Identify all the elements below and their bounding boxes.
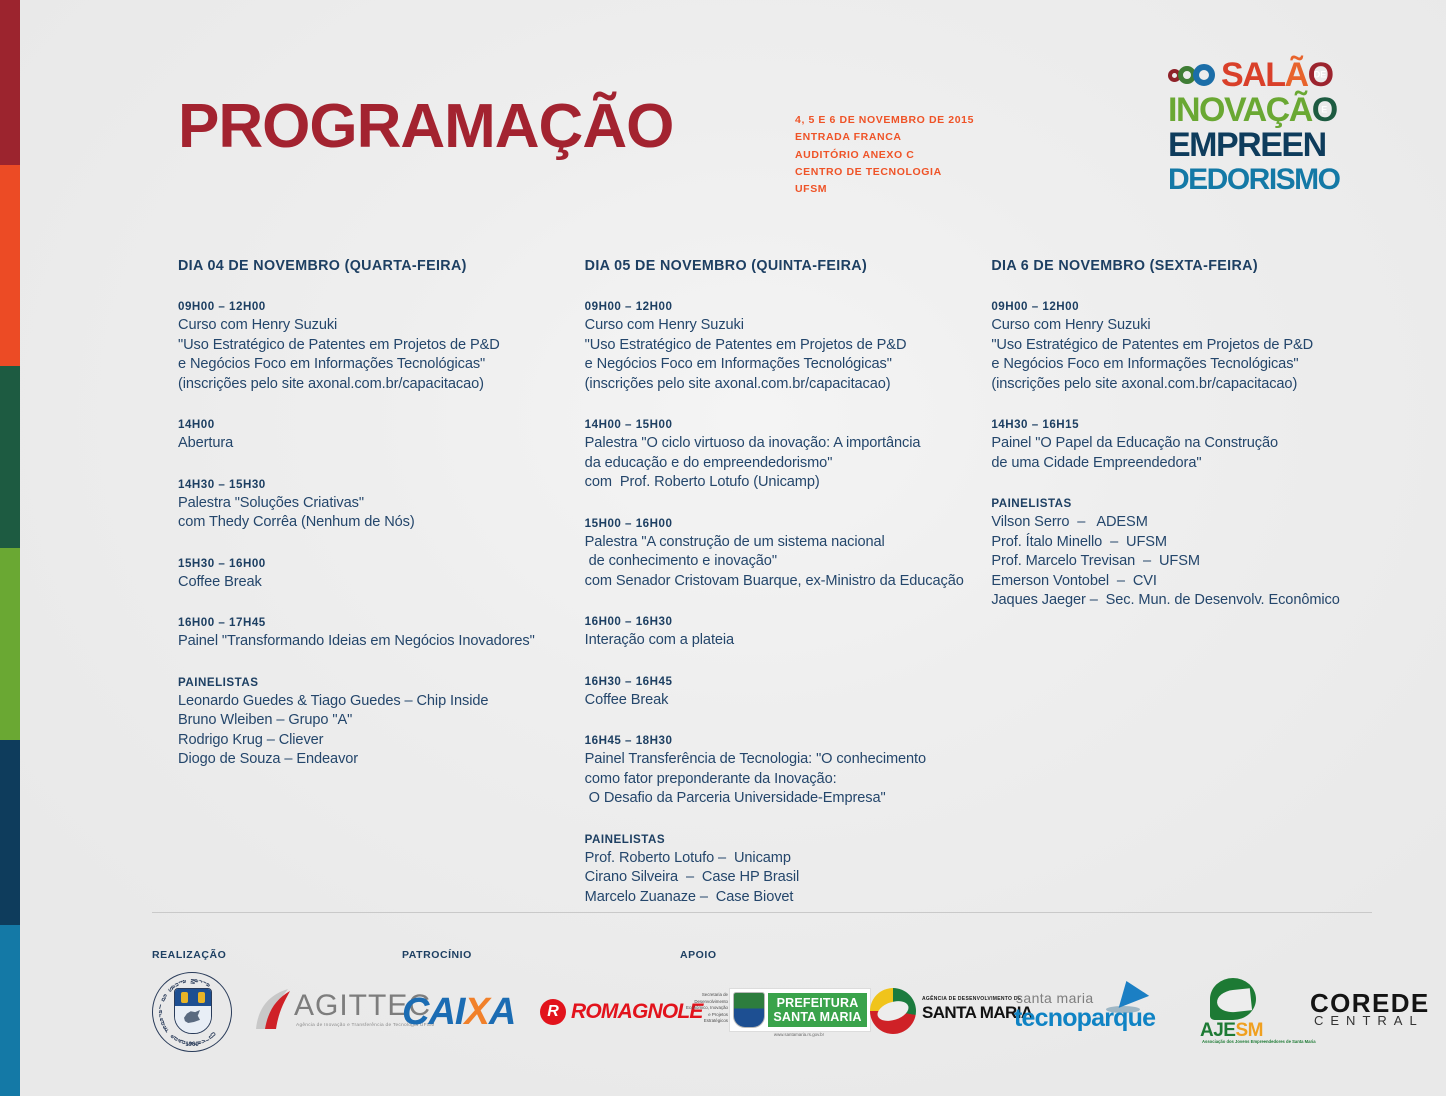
schedule-block-line: Vilson Serro – ADESM [991,513,1378,533]
schedule-block-time: 16H30 – 16H45 [585,675,972,688]
schedule-block-line: "Uso Estratégico de Patentes em Projetos… [178,336,565,356]
schedule-block: 15H00 – 16H00Palestra "A construção de u… [585,517,972,592]
schedule-block-line: "Uso Estratégico de Patentes em Projetos… [991,336,1378,356]
event-info-line: UFSM [795,181,974,198]
schedule-block-line: de uma Cidade Empreendedora" [991,454,1378,474]
schedule-block: 09H00 – 12H00Curso com Henry Suzuki"Uso … [991,300,1378,394]
schedule-block-line: Rodrigo Krug – Cliever [178,731,565,751]
schedule-block-line: e Negócios Foco em Informações Tecnológi… [991,355,1378,375]
logo-inovacao-o-chip: OE [1312,93,1337,127]
agittec-logo: AGITTEC Agência de Inovação e Transferên… [252,985,402,1039]
schedule-block-time: 09H00 – 12H00 [585,300,972,313]
ufsm-arc-char: e [161,992,168,1000]
schedule-block: 16H00 – 17H45Painel "Transformando Ideia… [178,616,565,652]
stripe-band-1 [0,165,20,366]
schedule-block-line: com Thedy Corrêa (Nenhum de Nós) [178,513,565,533]
corede-line2: CENTRAL [1314,1013,1424,1028]
event-info-line: 4, 5 E 6 DE NOVEMBRO DE 2015 [795,112,974,129]
schedule-block: 14H30 – 16H15Painel "O Papel da Educação… [991,418,1378,473]
schedule-columns: DIA 04 DE NOVEMBRO (QUARTA-FEIRA)09H00 –… [178,258,1378,907]
logo-inovacao-text: INOVAÇÃ [1168,93,1312,127]
logo-salao-text: SAL [1221,58,1285,92]
event-info-line: AUDITÓRIO ANEXO C [795,147,974,164]
schedule-block-line: Curso com Henry Suzuki [991,316,1378,336]
schedule-block: 16H30 – 16H45Coffee Break [585,675,972,711]
label-realizacao: REALIZAÇÃO [152,949,226,961]
caixa-part3: A [489,991,515,1033]
logo-row-empreen: EMPREEN [1168,128,1368,162]
corede-central-logo: COREDE CENTRAL [1310,988,1446,1038]
logo-salao-o-chip: ODE [1308,58,1333,92]
ufsm-horse-icon [184,1010,200,1023]
event-info: 4, 5 E 6 DE NOVEMBRO DE 2015 ENTRADA FRA… [795,112,974,198]
schedule-block-line: Palestra "O ciclo virtuoso da inovação: … [585,434,972,454]
schedule-block-line: Curso com Henry Suzuki [178,316,565,336]
schedule-column-1: DIA 04 DE NOVEMBRO (QUARTA-FEIRA)09H00 –… [178,258,565,907]
ufsm-year: 1960 [152,1042,232,1048]
schedule-block-time: 16H45 – 18H30 [585,734,972,747]
schedule-block-line: (inscrições pelo site axonal.com.br/capa… [585,375,972,395]
schedule-block-line: Curso com Henry Suzuki [585,316,972,336]
event-logo: SALÃODE INOVAÇÃOE EMPREEN DEDORISMO [1168,58,1368,197]
schedule-block-line: Emerson Vontobel – CVI [991,572,1378,592]
schedule-block-time: 14H00 – 15H00 [585,418,972,431]
ufsm-shield-bottom [175,1006,211,1033]
schedule-block-time: 14H30 – 15H30 [178,478,565,491]
schedule-block: PAINELISTASLeonardo Guedes & Tiago Guede… [178,676,565,770]
schedule-block: 09H00 – 12H00Curso com Henry Suzuki"Uso … [178,300,565,394]
schedule-block-time: PAINELISTAS [178,676,565,689]
schedule-block-line: Prof. Ítalo Minello – UFSM [991,533,1378,553]
prefeitura-line1: PREFEITURA [777,996,859,1010]
schedule-block: 14H00 – 15H00Palestra "O ciclo virtuoso … [585,418,972,493]
ring-blue-icon [1193,64,1215,86]
ajesm-logo: AJESM Associação dos Jovens Empreendedor… [1194,978,1290,1050]
ufsm-shield-top [175,989,211,1006]
prefeitura-secretaria-text: Secretaria de Desenvolvimento Econômico,… [684,992,732,1025]
stripe-band-5 [0,925,20,1096]
schedule-block: 15H30 – 16H00Coffee Break [178,557,565,593]
schedule-block: 16H45 – 18H30Painel Transferência de Tec… [585,734,972,809]
ajesm-sm: SM [1235,1020,1263,1041]
prefeitura-box: PREFEITURA SANTA MARIA [729,988,871,1032]
schedule-block-line: Palestra "A construção de um sistema nac… [585,533,972,553]
schedule-block-line: Leonardo Guedes & Tiago Guedes – Chip In… [178,692,565,712]
schedule-block: PAINELISTASVilson Serro – ADESMProf. Íta… [991,497,1378,611]
prefeitura-line2: SANTA MARIA [773,1010,861,1024]
schedule-block-line: Painel Transferência de Tecnologia: "O c… [585,750,972,770]
event-info-line: ENTRADA FRANCA [795,129,974,146]
adesm-globe-icon [870,988,916,1034]
schedule-block-line: de conhecimento e inovação" [585,552,972,572]
stripe-band-0 [0,0,20,165]
schedule-block-line: Bruno Wleiben – Grupo "A" [178,711,565,731]
schedule-block-time: 14H30 – 16H15 [991,418,1378,431]
schedule-block-time: 16H00 – 17H45 [178,616,565,629]
schedule-block-time: 16H00 – 16H30 [585,615,972,628]
ajesm-aje: AJE [1200,1020,1235,1041]
poster-canvas: PROGRAMAÇÃO 4, 5 E 6 DE NOVEMBRO DE 2015… [0,0,1446,1096]
schedule-block-line: Painel "O Papel da Educação na Construçã… [991,434,1378,454]
schedule-block-time: 15H30 – 16H00 [178,557,565,570]
tecnoparque-wordmark: tecnoparque [1014,1004,1155,1033]
schedule-block-line: Abertura [178,434,565,454]
schedule-block-line: com Senador Cristovam Buarque, ex-Minist… [585,572,972,592]
prefeitura-url: www.santamaria.rs.gov.br [729,1032,869,1037]
ufsm-seal-logo: Universidade Federal de Santa Maria 1960 [152,972,232,1052]
prefeitura-santa-maria-logo: Secretaria de Desenvolvimento Econômico,… [684,974,879,1050]
ufsm-shield-icon [174,988,212,1034]
romagnole-wordmark: ROMAGNOLE [571,1000,703,1024]
schedule-block-line: Interação com a plateia [585,631,972,651]
romagnole-badge-icon: R [540,999,566,1025]
stripe-band-3 [0,548,20,740]
schedule-block-time: 14H00 [178,418,565,431]
schedule-block: 14H30 – 15H30Palestra "Soluções Criativa… [178,478,565,533]
schedule-block-time: 09H00 – 12H00 [178,300,565,313]
footer-divider [152,912,1372,913]
schedule-block-line: Cirano Silveira – Case HP Brasil [585,868,972,888]
schedule-block-line: Jaques Jaeger – Sec. Mun. de Desenvolv. … [991,591,1378,611]
schedule-block-line: "Uso Estratégico de Patentes em Projetos… [585,336,972,356]
schedule-block-time: PAINELISTAS [991,497,1378,510]
schedule-block-time: 15H00 – 16H00 [585,517,972,530]
schedule-block-line: Prof. Roberto Lotufo – Unicamp [585,849,972,869]
schedule-block-line: (inscrições pelo site axonal.com.br/capa… [991,375,1378,395]
schedule-column-2: DIA 05 DE NOVEMBRO (QUINTA-FEIRA)09H00 –… [585,258,972,907]
schedule-block-line: com Prof. Roberto Lotufo (Unicamp) [585,473,972,493]
logo-row-inovacao: INOVAÇÃOE [1168,93,1368,127]
schedule-block-line: Diogo de Souza – Endeavor [178,750,565,770]
footer-logos: REALIZAÇÃO PATROCÍNIO APOIO Universidade… [152,940,1392,1060]
ufsm-arc-char: a [180,979,187,983]
logo-row-dedorismo: DEDORISMO [1168,163,1368,197]
event-info-line: CENTRO DE TECNOLOGIA [795,164,974,181]
schedule-block-line: Palestra "Soluções Criativas" [178,494,565,514]
left-color-stripe [0,0,20,1096]
adesm-subtitle: AGÊNCIA DE DESENVOLVIMENTO DE [922,996,1021,1002]
logo-empreen-text: EMPREEN [1168,128,1326,162]
schedule-block: 09H00 – 12H00Curso com Henry Suzuki"Uso … [585,300,972,394]
rings-icon [1168,64,1215,86]
stripe-band-4 [0,740,20,925]
schedule-block-line: Marcelo Zuanaze – Case Biovet [585,888,972,908]
schedule-block-line: Painel "Transformando Ideias em Negócios… [178,632,565,652]
ajesm-leaf-icon [1210,978,1256,1020]
schedule-block-line: Prof. Marcelo Trevisan – UFSM [991,552,1378,572]
page-title: PROGRAMAÇÃO [178,96,673,158]
schedule-block-line: da educação e do empreendedorismo" [585,454,972,474]
schedule-day-heading: DIA 05 DE NOVEMBRO (QUINTA-FEIRA) [585,258,972,274]
label-apoio: APOIO [680,949,717,961]
schedule-block-line: e Negócios Foco em Informações Tecnológi… [178,355,565,375]
schedule-day-heading: DIA 04 DE NOVEMBRO (QUARTA-FEIRA) [178,258,565,274]
logo-row-salao: SALÃODE [1168,58,1368,92]
schedule-block-line: Coffee Break [585,691,972,711]
schedule-block-line: como fator preponderante da Inovação: [585,770,972,790]
schedule-column-3: DIA 6 DE NOVEMBRO (SEXTA-FEIRA)09H00 – 1… [991,258,1378,907]
caixa-part1: CAI [402,991,464,1033]
stripe-band-2 [0,366,20,548]
schedule-block-line: (inscrições pelo site axonal.com.br/capa… [178,375,565,395]
schedule-day-heading: DIA 6 DE NOVEMBRO (SEXTA-FEIRA) [991,258,1378,274]
prefeitura-crest-icon [733,992,765,1028]
agittec-swoosh-icon [252,987,292,1031]
schedule-block: 16H00 – 16H30Interação com a plateia [585,615,972,651]
ajesm-subtitle: Associação dos Jovens Empreendedores de … [1202,1039,1316,1045]
caixa-x: X [464,991,488,1033]
schedule-block-line: O Desafio da Parceria Universidade-Empre… [585,789,972,809]
schedule-block: PAINELISTASProf. Roberto Lotufo – Unicam… [585,833,972,908]
tecnoparque-logo: santa maria tecnoparque [1014,984,1184,1040]
prefeitura-green-panel: PREFEITURA SANTA MARIA [768,993,867,1027]
logo-dedorismo-text: DEDORISMO [1168,165,1340,195]
schedule-block: 14H00Abertura [178,418,565,454]
schedule-block-line: e Negócios Foco em Informações Tecnológi… [585,355,972,375]
schedule-block-time: PAINELISTAS [585,833,972,846]
schedule-block-time: 09H00 – 12H00 [991,300,1378,313]
schedule-block-line: Coffee Break [178,573,565,593]
label-patrocinio: PATROCÍNIO [402,949,472,961]
